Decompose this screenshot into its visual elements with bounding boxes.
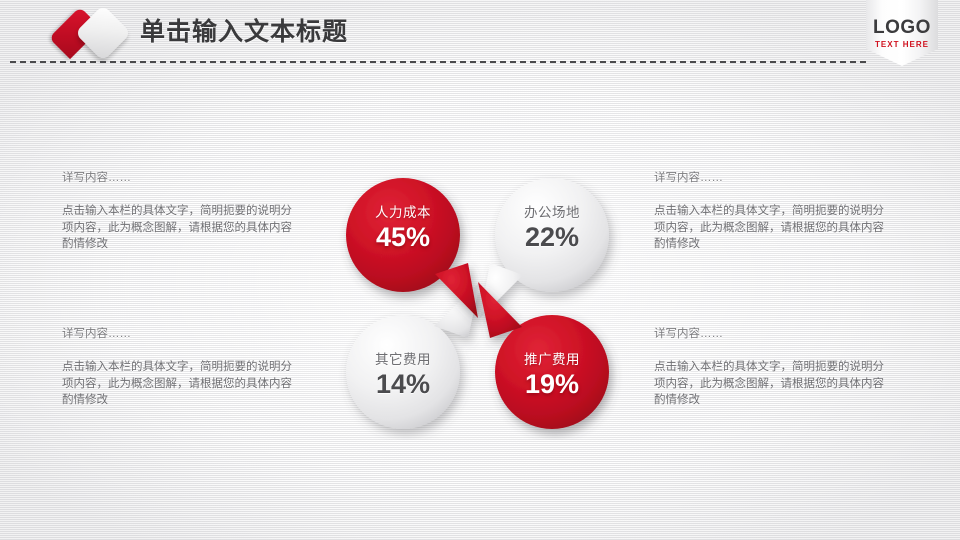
text-block-top-right: 详写内容…… 点击输入本栏的具体文字，简明扼要的说明分项内容，此为概念图解，请根… [654, 170, 884, 253]
bubble-shape-bottom-right[interactable] [478, 282, 609, 429]
text-block-heading: 详写内容…… [654, 170, 884, 186]
text-block-body: 点击输入本栏的具体文字，简明扼要的说明分项内容，此为概念图解，请根据您的具体内容… [654, 359, 884, 409]
bubble-shape-top-right[interactable] [480, 178, 609, 318]
logo-banner: LOGO TEXT HERE [866, 0, 938, 66]
slide-header: 单击输入文本标题 LOGO TEXT HERE [0, 0, 960, 68]
speech-bubble-shapes [318, 160, 642, 440]
text-block-heading: 详写内容…… [62, 170, 292, 186]
logo-subtitle: TEXT HERE [866, 40, 938, 49]
text-block-body: 点击输入本栏的具体文字，简明扼要的说明分项内容，此为概念图解，请根据您的具体内容… [62, 203, 292, 253]
text-block-heading: 详写内容…… [62, 326, 292, 342]
page-title: 单击输入文本标题 [140, 12, 348, 52]
bubble-shape-top-left[interactable] [346, 178, 478, 318]
text-block-bottom-left: 详写内容…… 点击输入本栏的具体文字，简明扼要的说明分项内容，此为概念图解，请根… [62, 326, 292, 409]
header-divider [10, 61, 866, 63]
text-block-top-left: 详写内容…… 点击输入本栏的具体文字，简明扼要的说明分项内容，此为概念图解，请根… [62, 170, 292, 253]
text-block-bottom-right: 详写内容…… 点击输入本栏的具体文字，简明扼要的说明分项内容，此为概念图解，请根… [654, 326, 884, 409]
speech-bubble-chart: 人力成本 45% 办公场地 22% 其它费用 14% 推广费用 19% [318, 160, 642, 440]
diamond-logo-icon [60, 6, 136, 60]
bubble-shape-bottom-left[interactable] [346, 282, 480, 429]
logo-word: LOGO [866, 18, 938, 37]
slide-canvas: 单击输入文本标题 LOGO TEXT HERE 详写内容…… 点击输入本栏的具体… [0, 0, 960, 540]
text-block-body: 点击输入本栏的具体文字，简明扼要的说明分项内容，此为概念图解，请根据您的具体内容… [654, 203, 884, 253]
text-block-heading: 详写内容…… [654, 326, 884, 342]
text-block-body: 点击输入本栏的具体文字，简明扼要的说明分项内容，此为概念图解，请根据您的具体内容… [62, 359, 292, 409]
